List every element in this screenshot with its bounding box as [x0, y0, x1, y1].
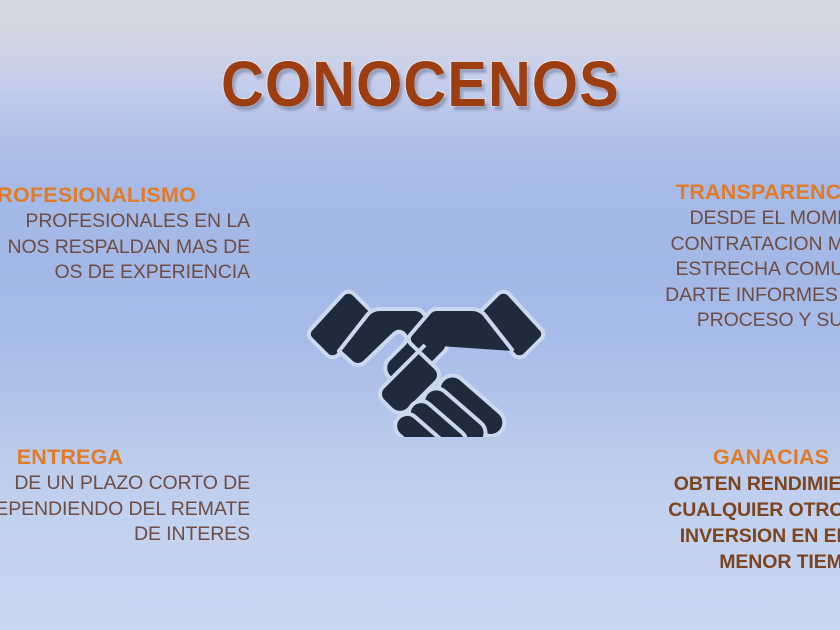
panel-transparencia-heading: TRANSPARENC — [590, 182, 840, 204]
panel-entrega-line-3: DE INTERES — [0, 525, 250, 545]
panel-ganacias: GANACIAS OBTEN RENDIMIENTOS M CUALQUIER … — [585, 447, 840, 572]
panel-ganacias-heading: GANACIAS — [585, 447, 840, 469]
panel-profesionalismo-line-3: OS DE EXPERIENCIA — [0, 263, 250, 283]
panel-profesionalismo: PROFESIONALISMO PROFESIONALES EN LA NOS … — [0, 185, 250, 283]
panel-profesionalismo-line-2: NOS RESPALDAN MAS DE — [0, 238, 250, 258]
slide-canvas: CONOCENOS PROFESIONALISMO PROFE — [0, 0, 840, 630]
panel-transparencia-line-3: ESTRECHA COMUNICAC — [590, 260, 840, 280]
panel-ganacias-line-3: INVERSION EN EL MERC — [585, 527, 840, 547]
panel-transparencia-line-1: DESDE EL MOMENTO — [590, 209, 840, 229]
panel-ganacias-line-4: MENOR TIEMPO — [585, 553, 840, 573]
panel-transparencia-line-2: CONTRATACION MANTEN — [590, 235, 840, 255]
page-title-text: CONOCENOS — [221, 52, 620, 116]
page-title: CONOCENOS — [0, 52, 840, 116]
handshake-icon — [303, 282, 549, 437]
panel-transparencia-line-4: DARTE INFORMES DETALL — [590, 286, 840, 306]
panel-entrega-heading: ENTREGA — [0, 447, 250, 469]
panel-ganacias-line-1: OBTEN RENDIMIENTOS M — [585, 475, 840, 495]
panel-transparencia: TRANSPARENC DESDE EL MOMENTO CONTRATACIO… — [590, 182, 840, 331]
panel-profesionalismo-heading: PROFESIONALISMO — [0, 185, 250, 207]
panel-entrega: ENTREGA DE UN PLAZO CORTO DE EPENDIENDO … — [0, 447, 250, 545]
panel-profesionalismo-line-1: PROFESIONALES EN LA — [0, 212, 250, 232]
panel-transparencia-line-5: PROCESO Y SU AVA — [590, 311, 840, 331]
panel-ganacias-line-2: CUALQUIER OTRO INSTRU — [585, 501, 840, 521]
panel-entrega-line-2: EPENDIENDO DEL REMATE — [0, 500, 250, 520]
panel-entrega-line-1: DE UN PLAZO CORTO DE — [0, 474, 250, 494]
